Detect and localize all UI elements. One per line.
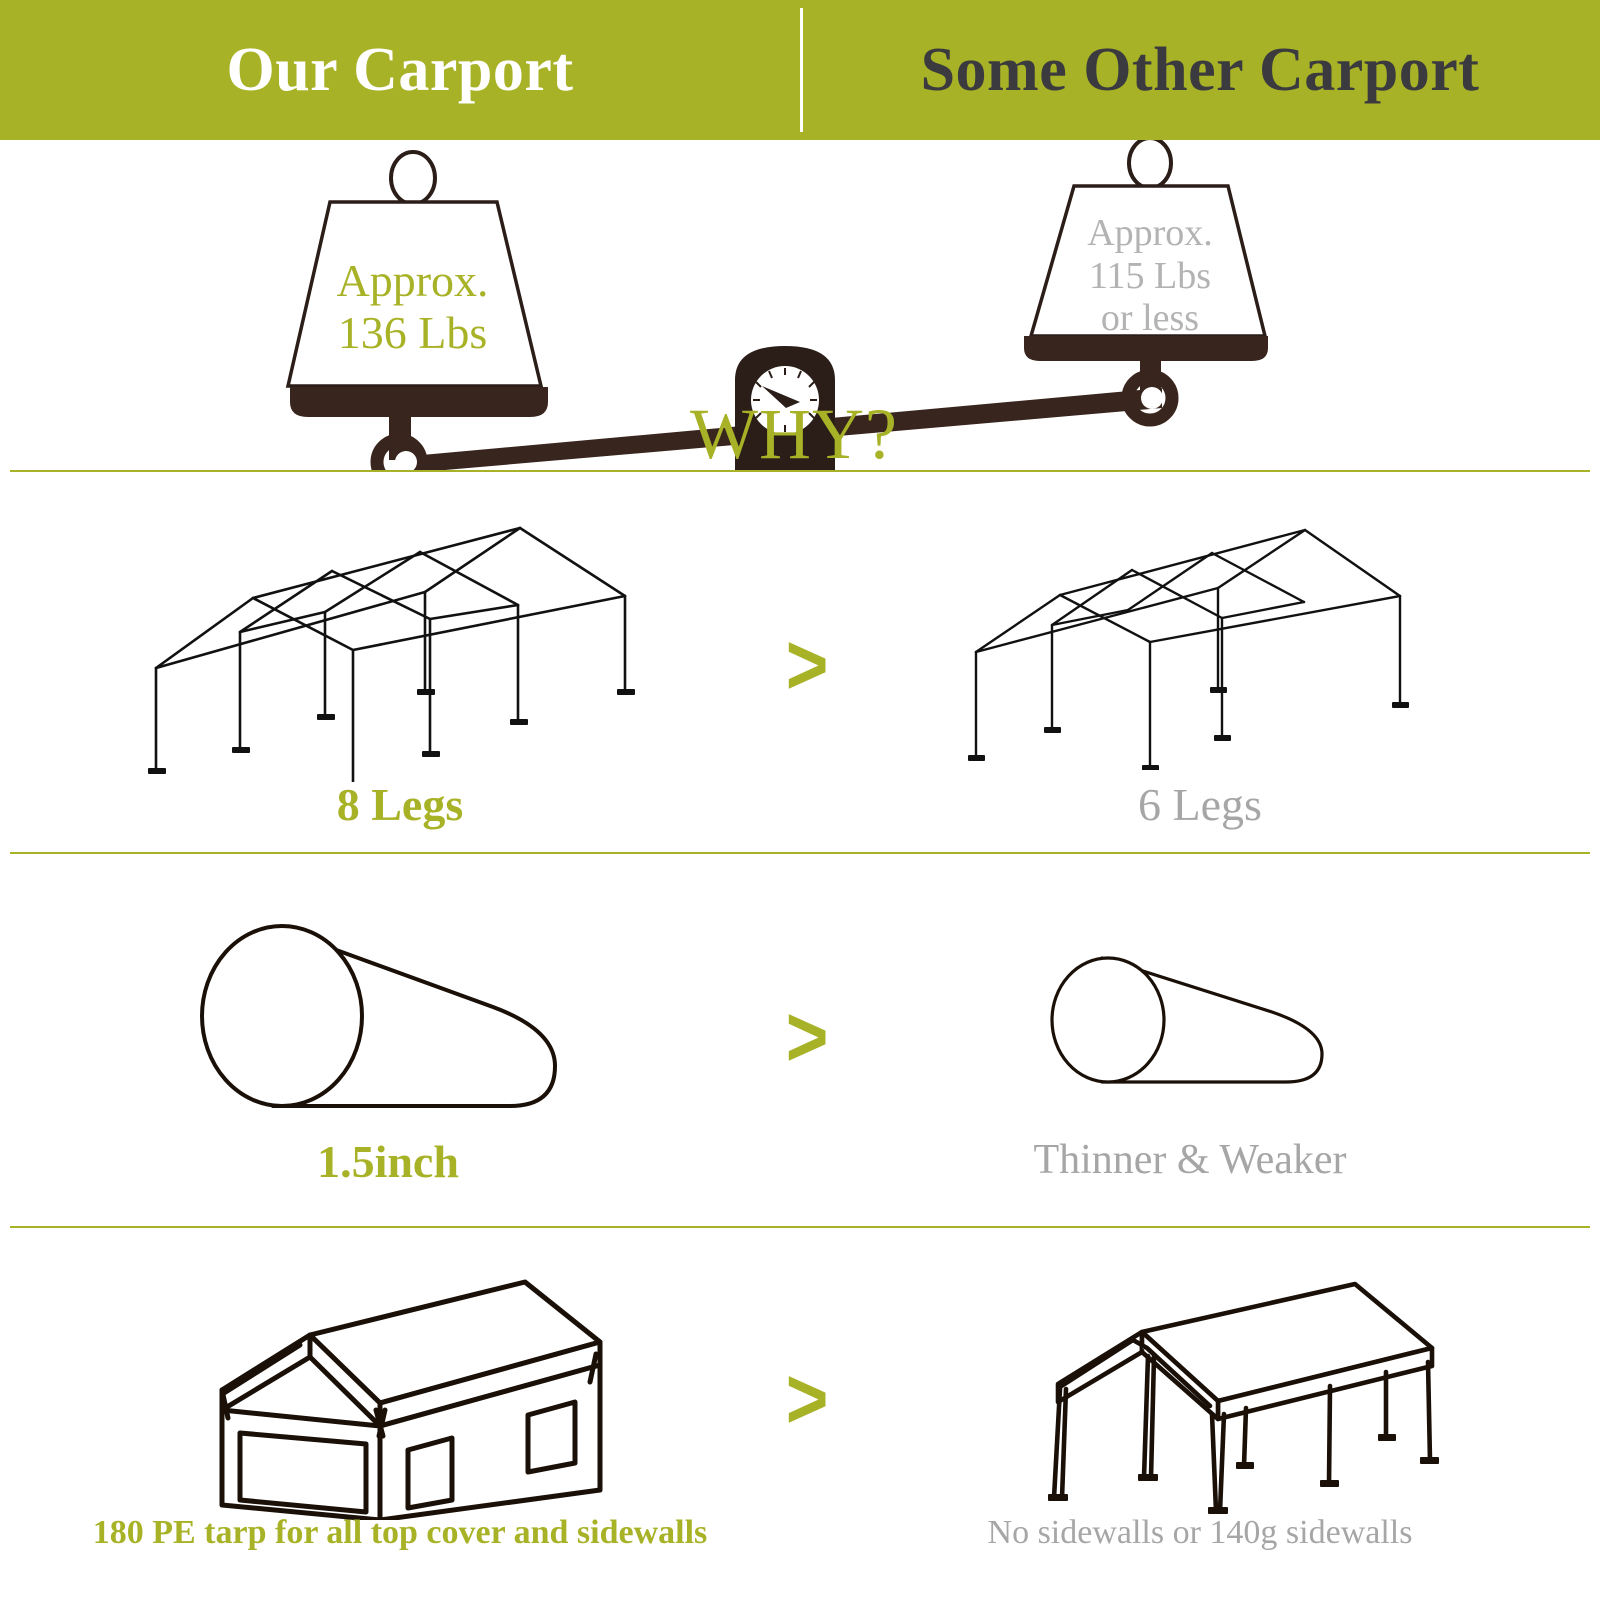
header-vertical-divider [800, 8, 803, 132]
why-label: WHY? [690, 398, 898, 470]
tube-right-cell: Thinner & Weaker [800, 854, 1600, 1226]
tube-comparison-row: > 1.5inch Thinner & Weaker [0, 854, 1600, 1226]
tarp-right-caption: No sidewalls or 140g sidewalls [800, 1516, 1600, 1550]
legs-right-cell: 6 Legs [800, 472, 1600, 852]
tarp-comparison-row: > 180 PE tarp for all top cover and side… [0, 1228, 1600, 1600]
legs-left-cell: 8 Legs [0, 472, 800, 852]
tube-left-cell: 1.5inch [0, 854, 800, 1226]
right-weight-icon [1024, 140, 1268, 396]
tarp-left-caption: 180 PE tarp for all top cover and sidewa… [0, 1516, 800, 1550]
legs-left-caption: 8 Legs [0, 782, 800, 828]
tarp-right-cell: No sidewalls or 140g sidewalls [800, 1228, 1600, 1600]
tarp-left-cell: 180 PE tarp for all top cover and sidewa… [0, 1228, 800, 1600]
left-weight-icon [288, 152, 548, 460]
header-cell-other: Some Other Carport [800, 0, 1600, 140]
legs-right-caption: 6 Legs [800, 782, 1600, 828]
legs-comparison-row: > 8 Legs 6 Legs [0, 472, 1600, 852]
tube-left-caption: 1.5inch [0, 1139, 788, 1185]
beam-hook-left [377, 440, 421, 470]
comparison-infographic: Our Carport Some Other Carport [0, 0, 1600, 1600]
header-cell-ours: Our Carport [0, 0, 800, 140]
header-band: Our Carport Some Other Carport [0, 0, 1600, 140]
page-title-other-carport: Some Other Carport [921, 39, 1480, 101]
page-title-our-carport: Our Carport [226, 39, 573, 101]
weight-comparison-row: Approx. 136 Lbs Approx. 115 Lbs or less … [0, 140, 1600, 470]
tube-right-caption: Thinner & Weaker [790, 1139, 1590, 1181]
